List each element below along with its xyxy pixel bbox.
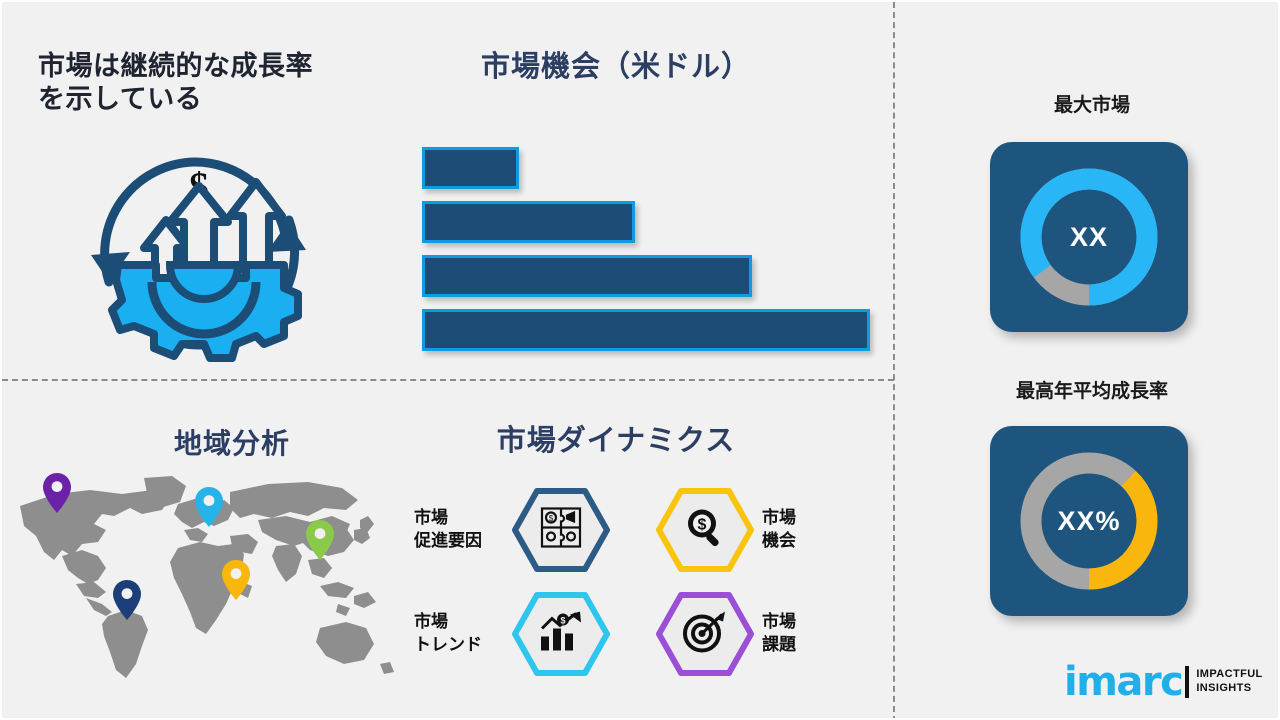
bar-1 [422,147,519,189]
magnifier-dollar-icon: $ [683,506,727,555]
svg-text:$: $ [698,517,707,534]
dynamics-item-label: 市場 トレンド [414,611,512,657]
hexagon-badge[interactable] [656,591,754,677]
world-map [2,464,402,689]
dynamics-item-3[interactable]: 市場 課題 [654,586,854,682]
highest-cagr-title: 最高年平均成長率 [932,380,1252,403]
bar-3 [422,255,752,297]
market-opportunity-bar-chart [422,147,882,352]
bar-fill [422,147,519,189]
dynamics-item-label: 市場 課題 [754,611,854,657]
dynamics-item-2[interactable]: 市場 トレンド$ [414,586,614,682]
logo-wordmark: imarc [1064,662,1182,702]
dynamics-item-label: 市場 促進要因 [414,507,512,553]
bar-fill [422,255,752,297]
logo-tagline: IMPACTFUL INSIGHTS [1196,668,1262,696]
largest-market-value: XX [990,142,1188,332]
pin-europe [194,486,224,528]
divider-vertical [893,2,895,720]
slide-canvas: 市場は継続的な成長率 を示している $ 市場機会（米ドル [0,0,1280,720]
svg-text:$: $ [560,616,565,626]
divider-horizontal [2,379,894,381]
bar-2 [422,201,635,243]
pin-north-america [42,472,72,514]
growth-gear-arrows-icon: $ [74,130,324,370]
largest-market-donut-card: XX [990,142,1188,332]
hexagon-badge[interactable]: $ [512,487,610,573]
highest-cagr-donut-card: XX% [990,426,1188,616]
svg-text:$: $ [549,514,554,523]
bar-chart-growth-icon: $ [538,611,584,658]
opportunity-panel-title: 市場機会（米ドル） [406,50,826,85]
largest-market-title: 最大市場 [942,94,1242,117]
region-panel-title: 地域分析 [112,427,352,461]
hexagon-badge[interactable]: $ [512,591,610,677]
dynamics-item-1[interactable]: 市場 機会$ [654,482,854,578]
highest-cagr-value: XX% [990,426,1188,616]
pin-east-asia [305,519,335,561]
dynamics-item-0[interactable]: 市場 促進要因$ [414,482,614,578]
hexagon-badge[interactable]: $ [656,487,754,573]
growth-panel-title: 市場は継続的な成長率 を示している [38,50,388,116]
bar-fill [422,309,870,351]
dynamics-item-label: 市場 機会 [754,507,854,553]
logo-divider [1185,666,1189,698]
puzzle-pieces-icon: $ [539,506,583,555]
imarc-logo: imarc IMPACTFUL INSIGHTS [1064,660,1263,704]
bar-fill [422,201,635,243]
pin-south-america [112,579,142,621]
market-dynamics-grid: 市場 促進要因$市場 機会$市場 トレンド$市場 課題 [406,482,826,687]
pin-middle-east [221,559,251,601]
dynamics-panel-title: 市場ダイナミクス [406,424,826,459]
target-arrow-icon [682,610,728,659]
bar-4 [422,309,870,351]
